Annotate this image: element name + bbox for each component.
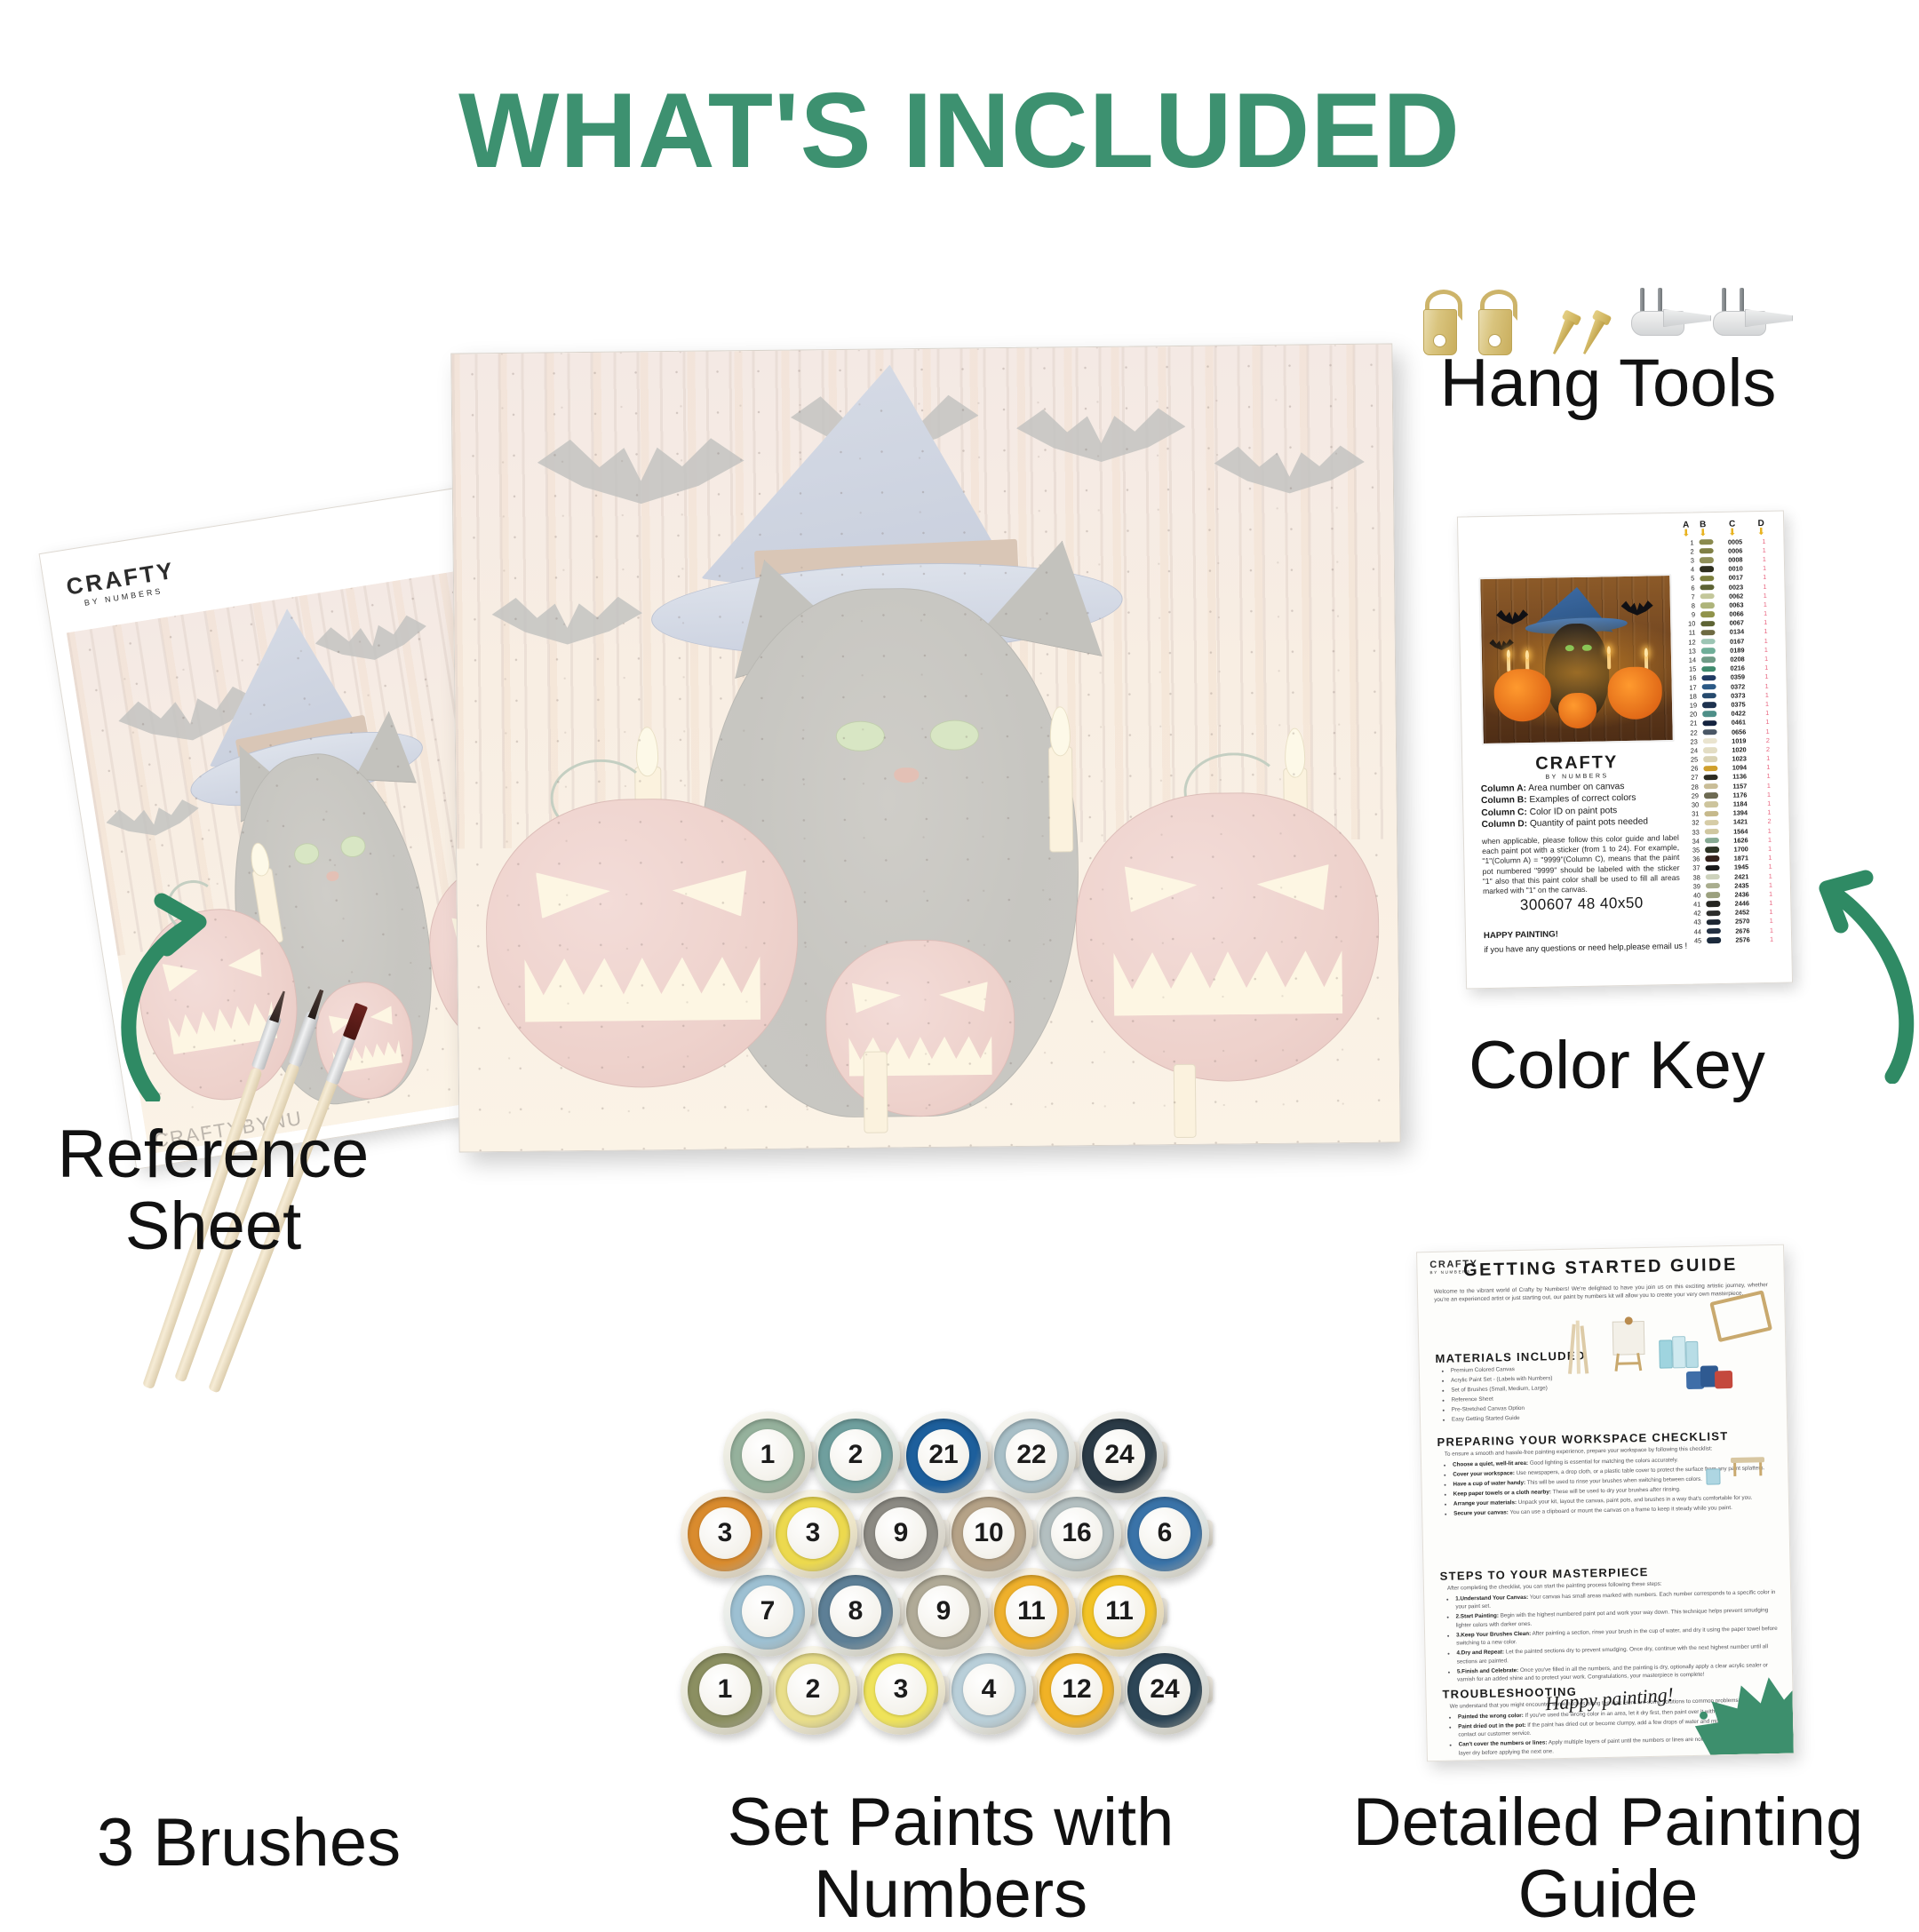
color-key-quantity: 1 — [1756, 627, 1774, 635]
color-key-swatch — [1700, 684, 1718, 690]
detailed-painting-guide: CRAFTYBY NUMBERS GETTING STARTED GUIDE W… — [1416, 1244, 1795, 1762]
paint-pot-number: 7 — [742, 1586, 793, 1637]
color-key-area-number: 27 — [1684, 774, 1701, 782]
color-key-area-number: 45 — [1686, 936, 1704, 944]
color-key-color-id: 0010 — [1716, 564, 1756, 573]
color-key-swatch — [1702, 838, 1721, 844]
color-key-color-id: 0375 — [1718, 700, 1758, 709]
color-key-quantity: 1 — [1757, 646, 1775, 654]
color-key-color-id: 0062 — [1716, 592, 1756, 600]
color-key-color-id: 0017 — [1716, 573, 1756, 582]
color-key-area-number: 7 — [1680, 592, 1698, 600]
color-key-color-id: 0005 — [1715, 537, 1755, 546]
color-key-quantity: 1 — [1760, 799, 1778, 807]
color-key-area-number: 41 — [1685, 900, 1703, 908]
paint-pot-number: 10 — [963, 1507, 1015, 1559]
color-key-swatch — [1700, 756, 1719, 762]
color-key-quantity: 1 — [1760, 781, 1778, 789]
down-arrow-icon: ⬇ — [1712, 529, 1752, 537]
color-key-area-number: 25 — [1683, 755, 1700, 763]
color-key-color-id: 0216 — [1717, 664, 1757, 672]
color-key-area-number: 12 — [1681, 638, 1699, 646]
color-key-area-number: 19 — [1682, 701, 1700, 709]
color-key-swatch — [1704, 937, 1723, 943]
color-key-note: when applicable, please follow this colo… — [1482, 833, 1680, 896]
color-key-swatch — [1703, 901, 1722, 907]
color-key-quantity: 1 — [1756, 591, 1774, 599]
color-key-swatch — [1698, 593, 1716, 600]
paint-pot-number: 12 — [1051, 1664, 1103, 1715]
color-key-color-id: 1136 — [1720, 773, 1760, 782]
color-key-area-number: 35 — [1684, 846, 1702, 854]
wall-hook-icon — [1713, 291, 1791, 346]
color-key-color-id: 0006 — [1716, 546, 1756, 555]
color-key-swatch — [1698, 630, 1716, 636]
color-key-quantity: 1 — [1756, 546, 1773, 554]
color-key-area-number: 18 — [1682, 692, 1700, 700]
down-arrow-icon: ⬇ — [1693, 529, 1712, 537]
guide-section-list: Premium Colored CanvasAcrylic Paint Set … — [1443, 1363, 1629, 1425]
paint-pot-number: 8 — [830, 1586, 881, 1637]
color-key-color-id: 0656 — [1719, 727, 1759, 736]
color-key-swatch — [1700, 702, 1718, 708]
color-key-swatch — [1701, 810, 1720, 816]
color-key-color-id: 0373 — [1718, 691, 1758, 700]
water-cup-icon — [1706, 1468, 1720, 1484]
color-key-quantity: 2 — [1759, 745, 1777, 753]
paint-pot-number: 11 — [1006, 1586, 1057, 1637]
reference-sheet-logo: CRAFTY BY NUMBERS — [64, 557, 178, 610]
brushes-label: 3 Brushes — [18, 1808, 480, 1880]
paint-pot-number: 24 — [1094, 1429, 1145, 1481]
color-key-quantity: 2 — [1759, 735, 1777, 743]
color-key-area-number: 32 — [1684, 819, 1702, 827]
color-key-quantity: 1 — [1756, 564, 1773, 572]
guide-label: Detailed Painting Guide — [1306, 1787, 1910, 1930]
color-key-area-number: 15 — [1681, 665, 1699, 673]
color-key-area-number: 9 — [1680, 610, 1698, 618]
color-key-quantity: 1 — [1759, 727, 1777, 735]
color-key-swatch — [1697, 576, 1716, 582]
color-key-swatch — [1703, 874, 1722, 880]
down-arrow-icon: ⬇ — [1752, 529, 1770, 537]
color-key-area-number: 28 — [1684, 783, 1701, 791]
guide-section-list: 1.Understand Your Canvas: Your canvas ha… — [1447, 1588, 1784, 1686]
color-key-quantity: 1 — [1757, 672, 1775, 680]
color-key-color-id: 0359 — [1717, 673, 1757, 682]
color-key-product-code: 300607 48 40x50 — [1483, 894, 1680, 915]
color-key-area-number: 37 — [1684, 864, 1702, 872]
color-key-color-id: 1157 — [1720, 782, 1760, 791]
color-key-quantity: 1 — [1757, 636, 1775, 644]
color-key-swatch — [1703, 865, 1722, 871]
color-key-color-id: 1023 — [1719, 754, 1759, 763]
paint-pot: 22 — [983, 1408, 1079, 1504]
color-key-area-number: 3 — [1679, 556, 1697, 564]
color-key-swatch — [1702, 829, 1721, 835]
color-key-swatch — [1699, 639, 1717, 645]
color-key-color-id: 0023 — [1716, 583, 1756, 592]
table-icon — [1731, 1457, 1764, 1477]
color-key-swatch — [1700, 766, 1719, 772]
color-key-area-number: 17 — [1682, 683, 1700, 691]
paint-pot-number: 3 — [699, 1507, 751, 1559]
color-key-swatch — [1697, 557, 1716, 563]
color-key-area-number: 30 — [1684, 800, 1701, 808]
color-key-color-id: 0167 — [1717, 637, 1757, 646]
color-key-area-number: 1 — [1678, 538, 1696, 546]
color-key-area-number: 34 — [1684, 837, 1702, 845]
color-key-swatch — [1700, 711, 1718, 717]
color-key-color-id: 1421 — [1721, 817, 1761, 826]
color-key-quantity: 1 — [1757, 655, 1775, 663]
color-key-quantity: 1 — [1758, 718, 1776, 726]
paint-pot-number: 2 — [787, 1664, 839, 1715]
paint-pot: 24 — [1071, 1408, 1167, 1504]
paint-pot-number: 9 — [918, 1586, 969, 1637]
color-key-color-id: 1564 — [1721, 827, 1761, 836]
color-key-swatch — [1700, 738, 1719, 744]
color-key-quantity: 1 — [1759, 754, 1777, 762]
paint-pot-number: 1 — [742, 1429, 793, 1481]
color-key-area-number: 22 — [1683, 728, 1700, 736]
paint-pot-number: 24 — [1139, 1664, 1190, 1715]
color-key-swatch — [1696, 539, 1715, 545]
color-key-color-id: 0134 — [1716, 628, 1756, 637]
color-key-area-number: 44 — [1686, 927, 1704, 935]
color-key-swatch — [1699, 656, 1717, 663]
color-key-area-number: 8 — [1680, 601, 1698, 609]
color-key-swatch — [1700, 729, 1719, 735]
color-key-swatch — [1701, 792, 1720, 799]
color-key-color-id: 0208 — [1717, 655, 1757, 664]
color-key-area-number: 26 — [1683, 765, 1700, 773]
paint-pots-icon — [1686, 1362, 1733, 1391]
paint-pot-number: 11 — [1094, 1586, 1145, 1637]
color-key-quantity: 1 — [1759, 763, 1777, 771]
color-key-swatch — [1698, 611, 1716, 617]
color-key-area-number: 23 — [1683, 737, 1700, 745]
paint-pot-number: 3 — [875, 1664, 927, 1715]
color-key-area-number: 24 — [1683, 746, 1700, 754]
down-arrow-icon: ⬇ — [1678, 529, 1693, 537]
color-key-swatch — [1698, 602, 1716, 608]
reference-sheet-label: Reference Sheet — [9, 1119, 418, 1262]
color-key-color-id: 1020 — [1719, 745, 1759, 754]
color-key-quantity: 1 — [1756, 609, 1774, 617]
canvas-artwork — [451, 344, 1399, 1151]
color-key-color-id: 0422 — [1718, 709, 1758, 718]
color-key-swatch — [1702, 847, 1721, 853]
color-key-color-id: 1394 — [1720, 808, 1760, 817]
color-key-quantity: 2 — [1760, 817, 1778, 825]
paint-pot: 2 — [808, 1408, 904, 1504]
color-key-swatch — [1699, 648, 1717, 654]
color-key-color-id: 1094 — [1719, 763, 1759, 772]
color-key-swatch — [1698, 621, 1716, 627]
color-key-quantity: 1 — [1756, 573, 1773, 581]
color-key-area-number: 11 — [1680, 629, 1698, 637]
color-key-area-number: 5 — [1679, 575, 1697, 583]
color-key-quantity: 1 — [1761, 845, 1779, 853]
paint-pot-number: 21 — [918, 1429, 969, 1481]
color-key-swatch — [1701, 801, 1720, 807]
color-key-area-number: 2 — [1679, 547, 1697, 555]
color-key-area-number: 39 — [1685, 882, 1703, 890]
easel-icon — [1607, 1321, 1649, 1373]
paint-pot: 21 — [896, 1408, 991, 1504]
color-key-columns: Column A: Area number on canvas Column B… — [1481, 780, 1679, 831]
color-key-quantity: 1 — [1760, 772, 1778, 780]
color-key-swatch — [1699, 665, 1717, 672]
color-key-area-number: 29 — [1684, 791, 1701, 799]
color-key-area-number: 42 — [1685, 910, 1703, 918]
color-key-swatch — [1704, 928, 1723, 934]
main-canvas — [450, 343, 1400, 1152]
paint-pot-number: 2 — [830, 1429, 881, 1481]
color-key-area-number: 10 — [1680, 620, 1698, 628]
paint-pot-number: 16 — [1051, 1507, 1103, 1559]
color-key-happy-text: HAPPY PAINTING! — [1484, 926, 1697, 941]
color-key-quantity: 1 — [1760, 791, 1778, 799]
color-key-swatch — [1701, 775, 1720, 781]
color-key-color-id: 0067 — [1716, 618, 1756, 627]
paint-pot-number: 3 — [787, 1507, 839, 1559]
color-key-swatch — [1697, 548, 1716, 554]
color-key-quantity: 1 — [1758, 691, 1776, 699]
color-key-quantity: 1 — [1761, 835, 1779, 843]
paint-pot-number: 4 — [963, 1664, 1015, 1715]
color-key-color-id: 0461 — [1718, 718, 1758, 727]
color-key-quantity: 1 — [1758, 700, 1776, 708]
color-key-swatch — [1703, 910, 1722, 917]
color-key-swatch — [1700, 720, 1718, 727]
color-key-area-number: 33 — [1684, 828, 1702, 836]
color-key-color-id: 0008 — [1716, 555, 1756, 564]
color-key-swatch — [1702, 855, 1721, 862]
color-key-color-id: 0063 — [1716, 600, 1756, 609]
color-key-area-number: 20 — [1682, 711, 1700, 719]
color-key-swatch — [1702, 820, 1721, 826]
paint-pot-number: 1 — [699, 1664, 751, 1715]
hang-tools-label: Hang Tools — [1359, 348, 1857, 420]
paint-pot-number: 6 — [1139, 1507, 1190, 1559]
color-key-swatch — [1703, 892, 1722, 898]
color-key-quantity: 1 — [1757, 664, 1775, 672]
color-key-area-number: 6 — [1679, 584, 1697, 592]
brushes-icon — [1568, 1318, 1590, 1375]
color-key-preview-image — [1478, 574, 1675, 745]
paint-pots-group: 1221222433910166789111112341224 — [677, 1408, 1210, 1754]
color-key-swatch — [1704, 919, 1723, 926]
color-key-color-id: 0066 — [1716, 609, 1756, 618]
color-key-swatch — [1701, 783, 1720, 790]
color-key-quantity: 1 — [1758, 709, 1776, 717]
color-key-area-number: 16 — [1681, 674, 1699, 682]
color-key-quantity: 1 — [1761, 826, 1779, 834]
reference-sheet-arrow-icon — [107, 879, 311, 1101]
color-key-quantity: 1 — [1756, 582, 1773, 590]
color-key-swatch — [1697, 566, 1716, 572]
color-key-quantity: 1 — [1756, 618, 1774, 626]
color-key-color-id: 0189 — [1717, 646, 1757, 655]
color-key-quantity: 1 — [1755, 537, 1772, 545]
color-key-brand: CRAFTY BY NUMBERS — [1482, 751, 1672, 782]
color-key-area-number: 36 — [1684, 855, 1702, 863]
color-key-color-id: 1019 — [1719, 736, 1759, 745]
paints-label: Set Paints with Numbers — [622, 1787, 1279, 1930]
color-key-quantity: 1 — [1756, 600, 1774, 608]
color-key-quantity: 1 — [1756, 555, 1773, 563]
brushes-group — [133, 1297, 391, 1741]
color-key-quantity: 1 — [1758, 681, 1776, 689]
color-key-email-text: if you have any questions or need help,p… — [1484, 941, 1701, 954]
color-key-area-number: 13 — [1681, 647, 1699, 655]
color-key-area-number: 40 — [1685, 891, 1703, 899]
color-key-swatch — [1703, 883, 1722, 889]
color-key-area-number: 4 — [1679, 566, 1697, 574]
color-key-area-number: 43 — [1686, 918, 1704, 926]
paint-pot-number: 22 — [1006, 1429, 1057, 1481]
guide-section-heading: MATERIALS INCLUDED — [1435, 1348, 1585, 1365]
color-key-area-number: 31 — [1684, 810, 1701, 818]
color-key-swatch — [1697, 584, 1716, 591]
color-key-swatch — [1700, 747, 1719, 753]
color-key-color-id: 0372 — [1718, 682, 1758, 691]
color-key-color-id: 1626 — [1721, 836, 1761, 845]
color-key-swatch — [1700, 693, 1718, 699]
paint-pot: 1 — [720, 1408, 816, 1504]
color-key-area-number: 14 — [1681, 656, 1699, 664]
color-key-area-number: 21 — [1682, 720, 1700, 727]
paint-pot-number: 9 — [875, 1507, 927, 1559]
color-key-color-id: 1184 — [1720, 799, 1760, 808]
color-key-swatch — [1699, 675, 1717, 681]
color-key-quantity: 1 — [1760, 808, 1778, 816]
color-key-area-number: 38 — [1685, 873, 1703, 881]
color-key-color-id: 1176 — [1720, 791, 1760, 799]
wall-hook-icon — [1631, 291, 1709, 346]
color-key-arrow-icon — [1740, 853, 1917, 1084]
page-title: WHAT'S INCLUDED — [0, 69, 1919, 192]
